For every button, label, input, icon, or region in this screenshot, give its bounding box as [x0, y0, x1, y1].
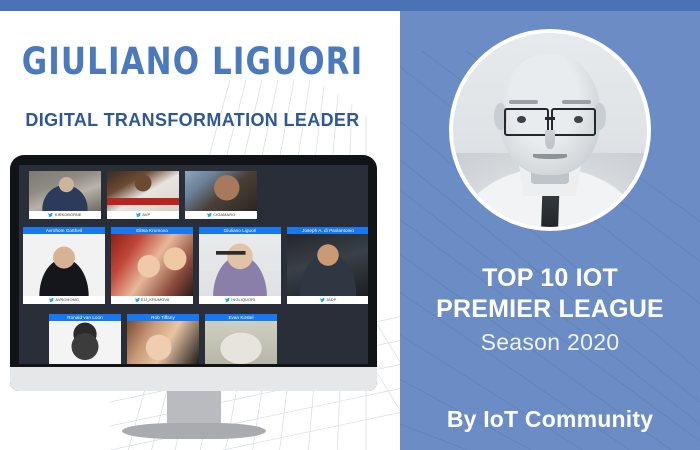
twitter-icon	[135, 298, 140, 302]
monitor-screen: KIRKDBORNE	[19, 165, 368, 364]
person-name: Avrohom Gottheil	[23, 227, 105, 234]
monitor-bezel-bottom	[10, 367, 377, 391]
twitter-icon	[320, 298, 325, 302]
person-name: Joseph A. di Paolantonio	[287, 227, 368, 234]
twitter-icon	[49, 298, 54, 302]
person-photo	[111, 234, 193, 296]
person-name: Giuliano Liguori	[199, 227, 281, 234]
person-card[interactable]: AVP	[107, 171, 179, 219]
person-photo	[49, 321, 121, 364]
award-title-line1: TOP 10 IOT	[400, 263, 700, 294]
person-photo	[127, 321, 199, 364]
person-card[interactable]: CIOAMARO	[185, 171, 257, 219]
person-photo	[287, 234, 368, 296]
award-byline: By IoT Community	[400, 406, 700, 433]
monitor-stand-base	[122, 423, 266, 439]
person-photo	[185, 171, 257, 211]
person-card[interactable]: Ronald van Loon	[49, 314, 121, 364]
person-handle-bar: KIRKDBORNE	[29, 211, 101, 219]
person-handle-bar: ELI_KRUMOVA	[111, 296, 193, 304]
person-card[interactable]: Evan Kirstel	[205, 314, 277, 364]
person-handle: CIOAMARO	[213, 211, 235, 219]
twitter-icon	[48, 213, 53, 217]
person-card[interactable]: Giuliano Liguori INGLIQUORI	[199, 227, 281, 304]
award-title-line2: PREMIER LEAGUE	[400, 294, 700, 325]
person-handle: INGLIQUORI	[231, 296, 255, 304]
grid-row-top: KIRKDBORNE	[29, 171, 257, 219]
person-handle-bar: INGLIQUORI	[199, 296, 281, 304]
grid-row-bottom: Ronald van Loon Rob Tiffany	[49, 314, 277, 364]
person-name: Ronald van Loon	[49, 314, 121, 321]
person-handle: AVROHOMG	[55, 296, 79, 304]
person-handle: JADP	[326, 296, 336, 304]
person-handle: AVP	[142, 211, 150, 219]
grid-row-middle: Avrohom Gottheil AVROHOMG	[23, 227, 368, 304]
top-accent-band	[0, 0, 700, 11]
person-card[interactable]: Joseph A. di Paolantonio JADP	[287, 227, 368, 304]
twitter-icon	[225, 298, 230, 302]
person-handle-bar: JADP	[287, 296, 368, 304]
monitor-illustration: KIRKDBORNE	[10, 155, 377, 391]
award-season: Season 2020	[400, 329, 700, 356]
person-handle-bar: CIOAMARO	[185, 211, 257, 219]
monitor-body: KIRKDBORNE	[10, 155, 377, 391]
person-name: Elitsa Krumova	[111, 227, 193, 234]
person-photo	[205, 321, 277, 364]
person-photo	[199, 234, 281, 296]
page-subtitle: DIGITAL TRANSFORMATION LEADER	[6, 109, 379, 131]
twitter-icon	[207, 213, 212, 217]
award-title: TOP 10 IOT PREMIER LEAGUE	[400, 263, 700, 325]
person-card[interactable]: Avrohom Gottheil AVROHOMG	[23, 227, 105, 304]
person-name: Rob Tiffany	[127, 314, 199, 321]
person-photo	[107, 171, 179, 211]
page-title: GIULIANO LIGUORI	[13, 43, 371, 80]
right-panel: TOP 10 IOT PREMIER LEAGUE Season 2020 By…	[400, 11, 700, 450]
person-name: Evan Kirstel	[205, 314, 277, 321]
person-card[interactable]: KIRKDBORNE	[29, 171, 101, 219]
avatar	[449, 29, 651, 231]
person-photo	[29, 171, 101, 211]
avatar-photo	[453, 33, 647, 227]
left-panel: GIULIANO LIGUORI DIGITAL TRANSFORMATION …	[0, 11, 400, 450]
person-handle: ELI_KRUMOVA	[141, 296, 170, 304]
person-handle-bar: AVP	[107, 211, 179, 219]
person-card[interactable]: Elitsa Krumova ELI_KRUMOVA	[111, 227, 193, 304]
person-photo	[23, 234, 105, 296]
twitter-icon	[136, 213, 141, 217]
person-handle-bar: AVROHOMG	[23, 296, 105, 304]
person-card[interactable]: Rob Tiffany	[127, 314, 199, 364]
people-grid: KIRKDBORNE	[19, 165, 368, 364]
poster-canvas: GIULIANO LIGUORI DIGITAL TRANSFORMATION …	[0, 0, 700, 450]
person-handle: KIRKDBORNE	[55, 211, 82, 219]
